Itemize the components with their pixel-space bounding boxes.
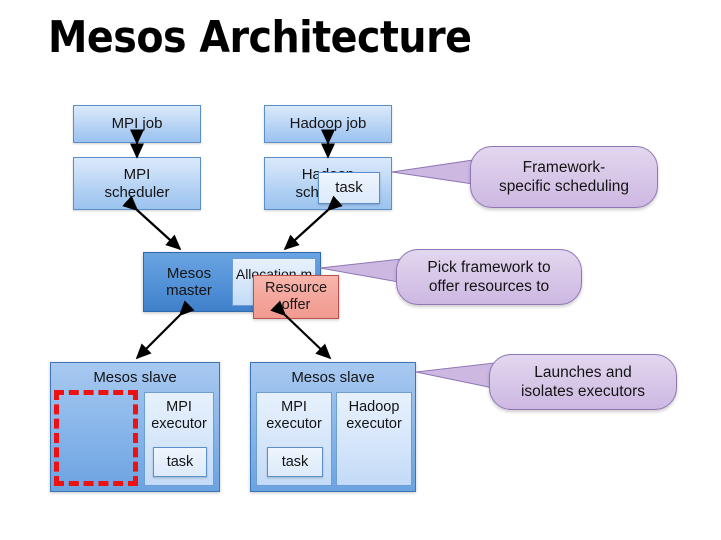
callout-framework-specific[interactable]: Framework- specific scheduling <box>470 146 658 208</box>
mpi-executor-left-box[interactable]: MPIexecutor task <box>144 392 214 486</box>
mpi-executor-left-task-label: task <box>167 454 194 471</box>
mpi-executor-left-label: MPIexecutor <box>145 393 213 432</box>
mpi-executor-right-box[interactable]: MPIexecutor task <box>256 392 332 486</box>
callout-framework-specific-text: Framework- specific scheduling <box>499 158 629 197</box>
mpi-executor-left-task-box[interactable]: task <box>153 447 207 477</box>
mpi-scheduler-box[interactable]: MPI job MPIscheduler <box>73 157 201 210</box>
resource-offer-box[interactable]: Resourceoffer <box>253 275 339 319</box>
mesos-slave-right-label: Mesos slave <box>251 369 415 386</box>
mpi-job-label: MPI job <box>112 115 163 132</box>
mpi-job-box[interactable]: MPI job <box>73 105 201 143</box>
slide-canvas: Mesos Architecture <box>0 0 721 540</box>
mesos-master-label: Mesosmaster <box>146 265 232 300</box>
mpi-executor-right-task-label: task <box>282 454 309 471</box>
hadoop-executor-right-box[interactable]: Hadoopexecutor <box>336 392 412 486</box>
arrow-master-slave-right <box>285 315 330 358</box>
mpi-scheduler-label: MPI job MPIscheduler <box>104 166 169 201</box>
arrow-master-slave-left <box>137 315 180 358</box>
scheduler-task-box[interactable]: task <box>318 172 380 204</box>
scheduler-task-label: task <box>335 179 363 196</box>
resource-offer-label: Resourceoffer <box>265 280 327 313</box>
hadoop-job-label: Hadoop job <box>290 115 367 132</box>
hadoop-job-box[interactable]: Hadoop job <box>264 105 392 143</box>
free-resources-marker <box>54 390 138 486</box>
arrow-hadoop-scheduler-master <box>285 210 328 249</box>
arrow-mpi-scheduler-master <box>137 210 180 249</box>
mpi-executor-right-label: MPIexecutor <box>257 393 331 432</box>
mesos-slave-left-label: Mesos slave <box>51 369 219 386</box>
mpi-executor-right-task-box[interactable]: task <box>267 447 323 477</box>
hadoop-executor-right-label: Hadoopexecutor <box>337 393 411 432</box>
callout-pick-framework[interactable]: Pick framework to offer resources to <box>396 249 582 305</box>
callout-pick-framework-text: Pick framework to offer resources to <box>427 258 550 297</box>
page-title: Mesos Architecture <box>48 12 471 63</box>
callout-launches-isolates[interactable]: Launches and isolates executors <box>489 354 677 410</box>
callout-launches-isolates-text: Launches and isolates executors <box>521 363 645 402</box>
